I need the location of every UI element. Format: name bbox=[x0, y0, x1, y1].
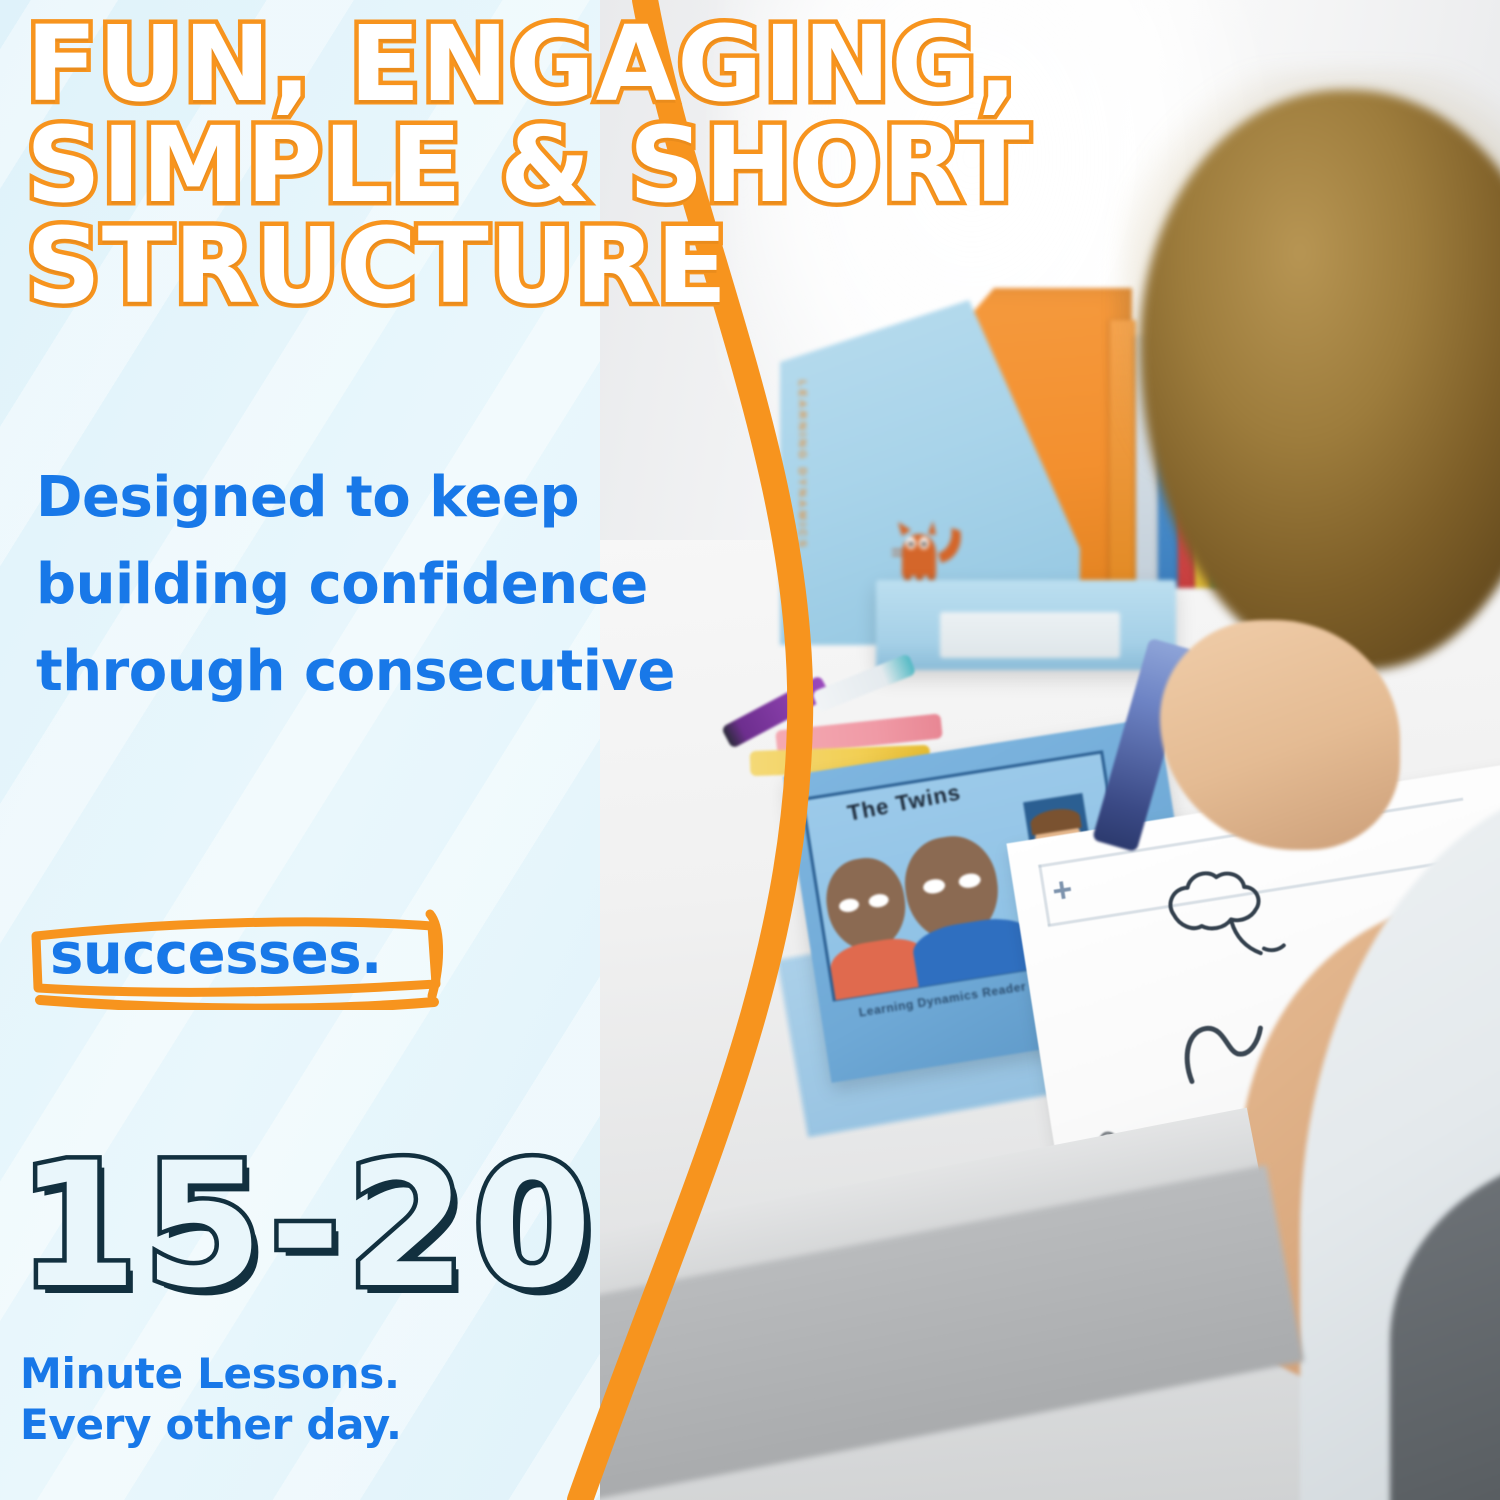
lesson-duration-caption: Minute Lessons. Every other day. bbox=[20, 1348, 402, 1450]
storage-box-brand-label: LEARNING DYNAMICS bbox=[796, 380, 808, 550]
highlighted-word: successes. bbox=[50, 922, 382, 987]
product-feature-panel: LEARNING DYNAMICS bbox=[0, 0, 1500, 1500]
caption-line-2: Every other day. bbox=[20, 1399, 402, 1450]
caption-line-1: Minute Lessons. bbox=[20, 1348, 402, 1399]
lesson-duration-number: 15-20 bbox=[18, 1140, 598, 1312]
highlighted-word-group: successes. bbox=[18, 900, 448, 1010]
body-copy-line-2: building confidence bbox=[36, 542, 776, 629]
body-copy: Designed to keep building confidence thr… bbox=[36, 455, 776, 715]
storage-box-base-label bbox=[940, 612, 1120, 658]
body-copy-line-3: through consecutive bbox=[36, 629, 776, 716]
page-title: FUN, ENGAGING, SIMPLE & SHORT STRUCTURE bbox=[26, 14, 1066, 317]
body-copy-line-1: Designed to keep bbox=[36, 455, 776, 542]
